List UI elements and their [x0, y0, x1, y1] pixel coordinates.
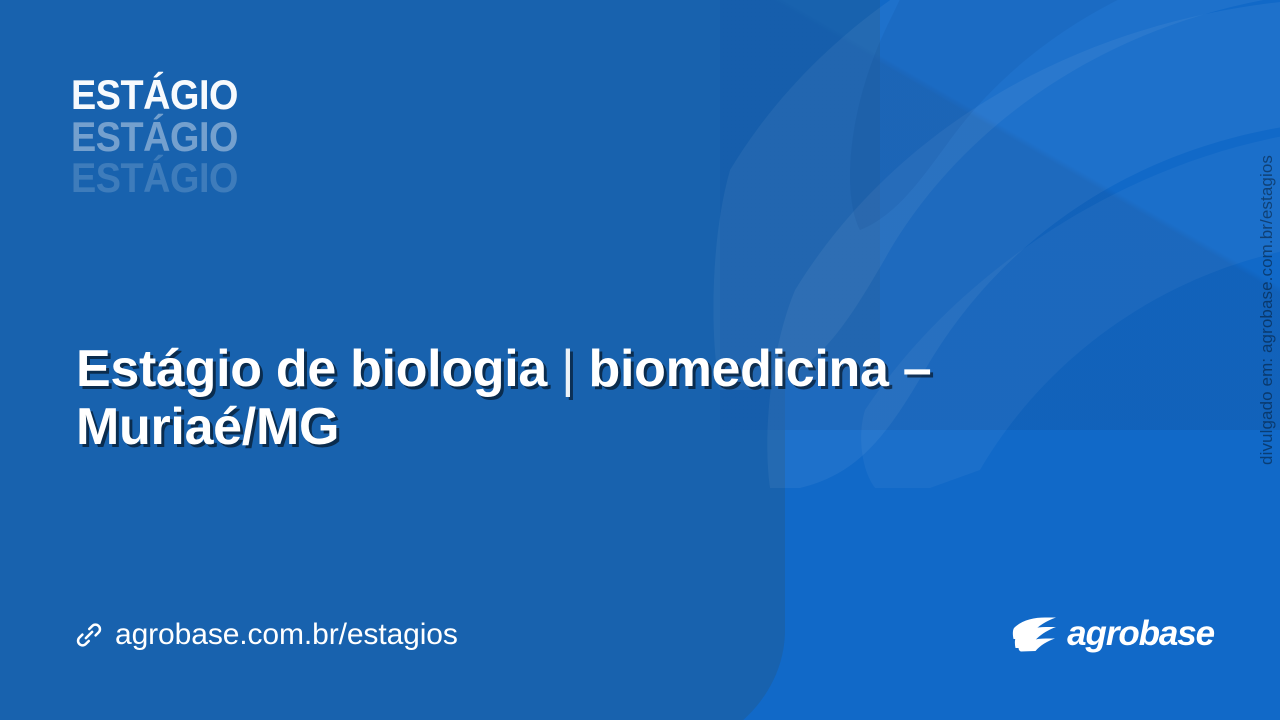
- page-title-separator: |: [561, 340, 574, 398]
- agrobase-logo-mark-icon: [1012, 617, 1058, 652]
- estagio-line-1: ESTÁGIO: [71, 74, 238, 116]
- source-credit: divulgado em: agrobase.com.br/estagios: [1254, 155, 1280, 585]
- estagio-badge: ESTÁGIO ESTÁGIO ESTÁGIO: [71, 74, 257, 199]
- page-title-part-1: Estágio de biologia: [76, 340, 547, 398]
- brand-lockup[interactable]: agrobase: [1012, 614, 1214, 654]
- site-url-label: agrobase.com.br/estagios: [115, 618, 458, 652]
- brand-wordmark: agrobase: [1067, 614, 1214, 654]
- link-icon: [74, 620, 104, 650]
- source-credit-label: divulgado em: agrobase.com.br/estagios: [1257, 155, 1277, 465]
- estagio-line-3: ESTÁGIO: [71, 157, 238, 199]
- promo-card: ESTÁGIO ESTÁGIO ESTÁGIO Estágio de biolo…: [0, 0, 1280, 720]
- page-title: Estágio de biologia | biomedicina – Muri…: [76, 340, 1061, 456]
- estagio-line-2: ESTÁGIO: [71, 116, 238, 158]
- site-url[interactable]: agrobase.com.br/estagios: [74, 618, 458, 652]
